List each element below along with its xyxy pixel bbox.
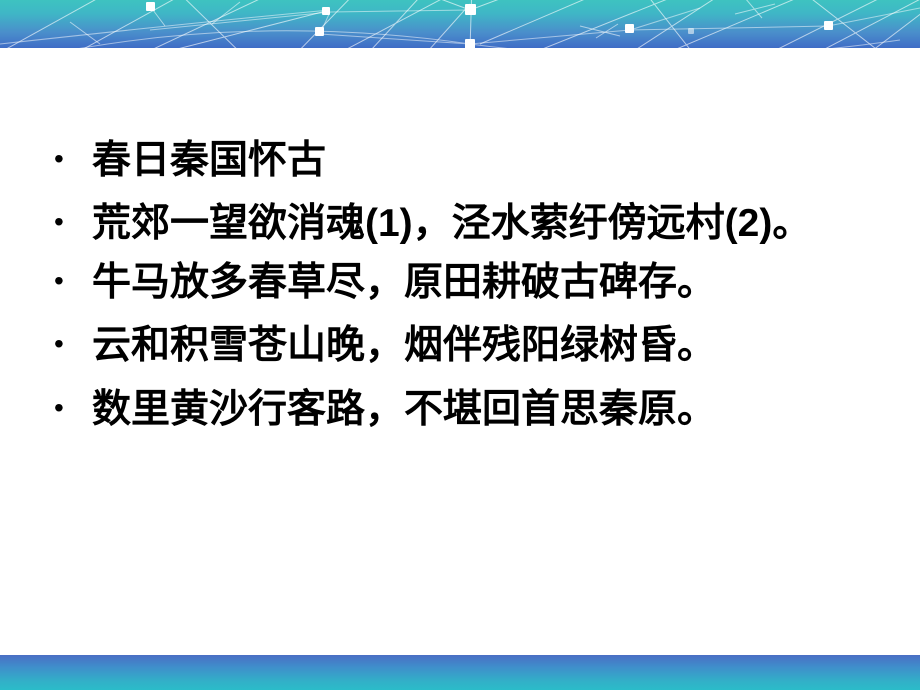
bullet-text: 荒郊一望欲消魂(1)，泾水萦纡傍远村(2)。 [92,199,888,248]
list-item: 云和积雪苍山晚，烟伴残阳绿树昏。 [48,321,888,370]
poem-bullet-list: 春日秦国怀古 荒郊一望欲消魂(1)，泾水萦纡傍远村(2)。 牛马放多春草尽，原田… [48,136,888,448]
bullet-text: 云和积雪苍山晚，烟伴残阳绿树昏。 [92,321,888,370]
network-pattern-graphic [0,0,920,48]
bullet-text: 春日秦国怀古 [92,136,888,185]
slide-header-decoration [0,0,920,48]
presentation-slide: 春日秦国怀古 荒郊一望欲消魂(1)，泾水萦纡傍远村(2)。 牛马放多春草尽，原田… [0,0,920,690]
slide-footer-decoration [0,655,920,690]
list-item: 数里黄沙行客路，不堪回首思秦原。 [48,385,888,434]
list-item: 荒郊一望欲消魂(1)，泾水萦纡傍远村(2)。 [48,199,888,248]
bullet-text: 牛马放多春草尽，原田耕破古碑存。 [92,258,888,307]
list-item: 春日秦国怀古 [48,136,888,185]
list-item: 牛马放多春草尽，原田耕破古碑存。 [48,258,888,307]
bullet-text: 数里黄沙行客路，不堪回首思秦原。 [92,385,888,434]
slide-body: 春日秦国怀古 荒郊一望欲消魂(1)，泾水萦纡傍远村(2)。 牛马放多春草尽，原田… [0,48,920,655]
